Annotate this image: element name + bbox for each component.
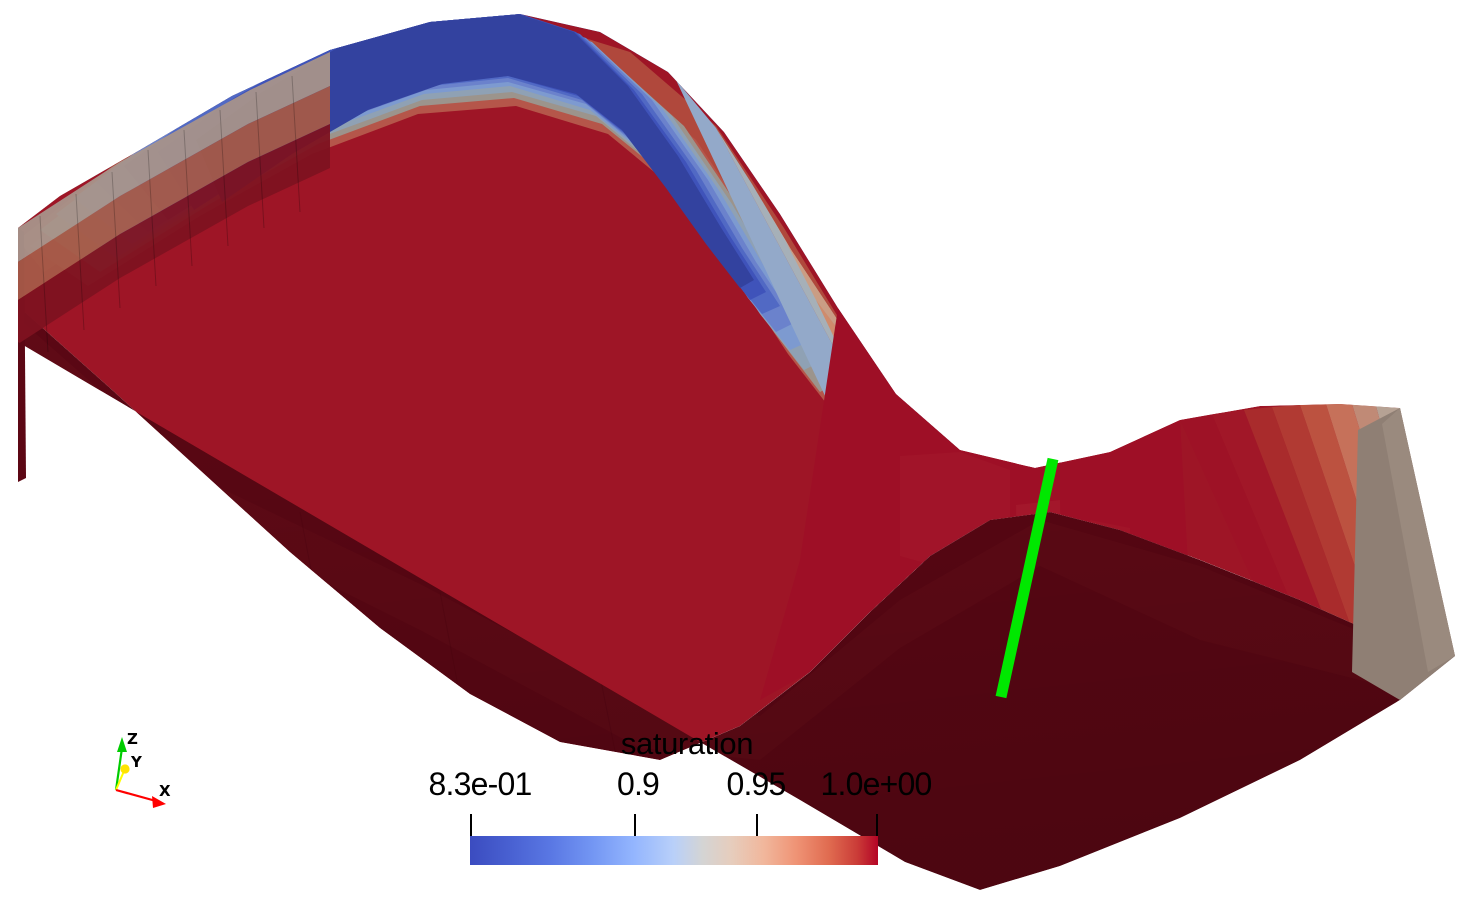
y-axis-dot [120, 764, 129, 773]
paraview-render-window[interactable]: Z Y X saturation 8.3e-01 0.9 0.95 1.0e+0… [0, 0, 1464, 904]
scalar-bar-legend[interactable]: saturation 8.3e-01 0.9 0.95 1.0e+00 [406, 726, 966, 868]
y-axis-label: Y [130, 753, 143, 771]
scalar-bar-label-min: 8.3e-01 [429, 766, 532, 803]
z-axis-arrowhead [117, 737, 127, 752]
scalar-bar-title: saturation [406, 726, 966, 762]
scalar-bar-gradient[interactable] [470, 836, 878, 865]
scalar-bar-label-0-95: 0.95 [726, 766, 785, 803]
orientation-axes-widget[interactable]: Z Y X [96, 724, 192, 820]
right-end-cap [1352, 408, 1455, 700]
x-axis-line [116, 790, 156, 801]
scalar-bar-label-0-9: 0.9 [617, 766, 659, 803]
scalar-bar-labels: 8.3e-01 0.9 0.95 1.0e+00 [406, 766, 966, 806]
z-axis-label: Z [127, 730, 138, 748]
scalar-bar-label-max: 1.0e+00 [821, 766, 932, 803]
x-axis-label: X [159, 782, 171, 800]
